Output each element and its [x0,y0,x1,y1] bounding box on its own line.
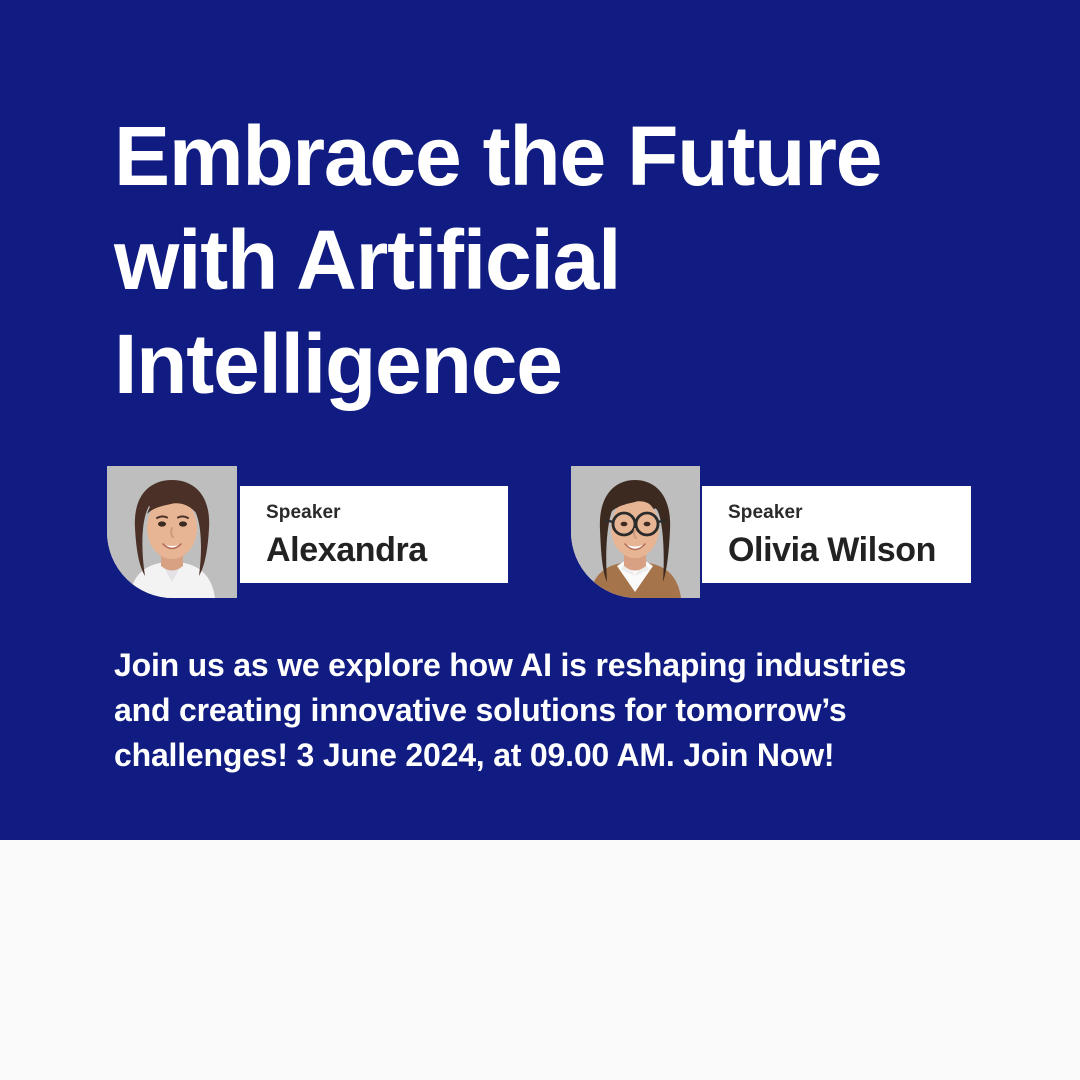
page-title-line: Intelligence [114,312,994,416]
speaker-name: Olivia Wilson [728,533,971,567]
speaker-photo [107,466,237,598]
speaker-portrait-icon [107,466,237,598]
page-title: Embrace the Future with Artificial Intel… [114,104,994,416]
speaker-label-box: Speaker Alexandra [240,486,508,583]
event-poster: Embrace the Future with Artificial Intel… [0,0,1080,1080]
speaker-role-label: Speaker [266,503,508,522]
event-description-line: and creating innovative solutions for to… [114,688,994,733]
event-description-line: challenges! 3 June 2024, at 09.00 AM. Jo… [114,733,994,778]
event-description-line: Join us as we explore how AI is reshapin… [114,643,994,688]
speaker-role-label: Speaker [728,503,971,522]
hero-section: Embrace the Future with Artificial Intel… [0,0,1080,840]
speaker-portrait-glasses-icon [571,466,700,598]
speaker-photo [571,466,700,598]
speaker-card: Speaker Olivia Wilson [571,466,971,598]
speaker-label-box: Speaker Olivia Wilson [702,486,971,583]
footer-section: Capcut Free Registration! Follow our soc… [0,840,1080,1080]
page-title-line: Embrace the Future [114,104,994,208]
speaker-name: Alexandra [266,533,508,567]
speaker-card: Speaker Alexandra [107,466,508,598]
event-description: Join us as we explore how AI is reshapin… [114,643,994,777]
page-title-line: with Artificial [114,208,994,312]
